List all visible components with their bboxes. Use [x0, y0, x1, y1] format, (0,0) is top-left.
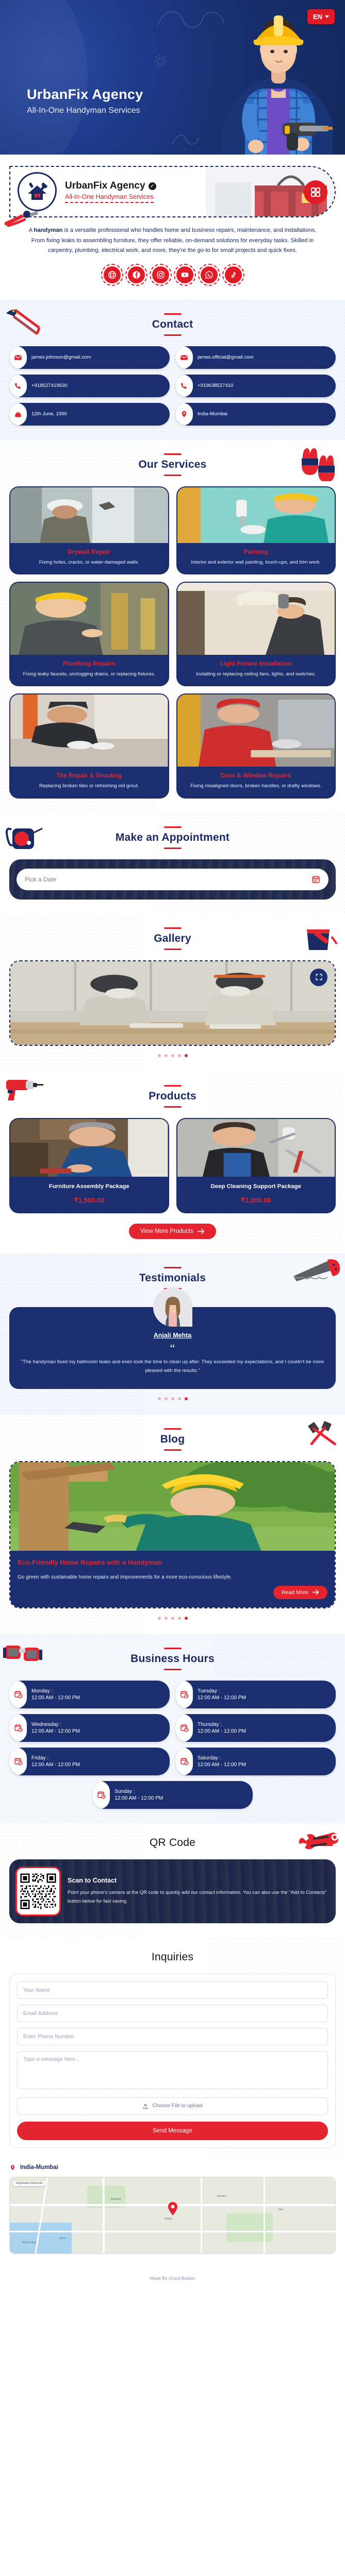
hours-day: Tuesday : [198, 1688, 246, 1694]
product-image [10, 1119, 168, 1177]
service-card[interactable]: Light Fixture Installation Installing or… [176, 582, 336, 686]
hours-time: 12:00 AM - 12:00 PM [198, 1762, 246, 1768]
rule-top [164, 927, 182, 929]
map-road [103, 2177, 105, 2254]
location-pin-icon [9, 2164, 16, 2171]
hours-row-saturday: Saturday : 12:00 AM - 12:00 PM [175, 1748, 336, 1775]
rule-top [164, 1085, 182, 1087]
avatar [153, 1287, 192, 1327]
facebook-glyph [132, 270, 141, 279]
hours-time: 12:00 AM - 12:00 PM [31, 1728, 80, 1734]
section-title: Gallery [9, 933, 336, 945]
service-name: Tile Repair & Grouting [15, 772, 163, 779]
service-image [177, 694, 335, 767]
service-desc: Installing or replacing ceiling fans, li… [182, 670, 331, 678]
pagination-dot[interactable] [178, 1397, 181, 1400]
contact-section: Contact james.johnson@gmail.com james.of… [0, 300, 345, 440]
service-name: Light Fixture Installation [182, 660, 331, 667]
map-place-label: Mumbai [111, 2198, 121, 2201]
calendar-clock-icon [175, 1748, 193, 1775]
view-more-products-button[interactable]: View More Products [129, 1224, 216, 1239]
hours-time: 12:00 AM - 12:00 PM [114, 1795, 163, 1801]
hours-day: Friday : [31, 1755, 80, 1761]
calendar-clock-icon [92, 1781, 110, 1809]
contact-item-phone-2[interactable]: +919638527410 [175, 375, 336, 397]
hero-subtitle: All-In-One Handyman Services [27, 106, 143, 115]
map-embed[interactable]: Mumbai Dadar Worli Bandra Mahim Bay Sion… [9, 2177, 336, 2254]
inquiries-header: Inquiries [9, 1951, 336, 1963]
product-name: Furniture Assembly Package [14, 1182, 164, 1191]
gallery-section: Gallery [0, 914, 345, 1072]
date-picker[interactable]: Pick a Date [17, 869, 328, 890]
hours-text: Friday : 12:00 AM - 12:00 PM [31, 1755, 80, 1768]
section-title: Our Services [9, 459, 336, 471]
contact-value: james.johnson@gmail.com [31, 354, 91, 360]
birthday-cake-icon [9, 403, 27, 426]
language-selector[interactable]: EN [307, 9, 335, 24]
upload-icon [142, 2103, 149, 2109]
testimonial-text: "The handyman fixed my bathroom leaks an… [20, 1358, 325, 1376]
map-marker-icon [168, 2202, 178, 2215]
hours-time: 12:00 AM - 12:00 PM [198, 1728, 246, 1734]
appointment-section: Make an Appointment Pick a Date [0, 813, 345, 914]
business-hours-section: Business Hours Monday : 12:00 AM - 12:00… [0, 1634, 345, 1823]
pagination-dot[interactable] [165, 1397, 168, 1400]
section-title: Inquiries [9, 1951, 336, 1963]
rule-bottom [164, 948, 182, 950]
gallery-header: Gallery [9, 927, 336, 950]
hours-time: 12:00 AM - 12:00 PM [31, 1695, 80, 1701]
contact-item-phone-1[interactable]: +918527419630 [9, 375, 170, 397]
whatsapp-icon[interactable] [201, 266, 218, 283]
map-place-label: Sion [278, 2208, 284, 2211]
service-card[interactable]: Painting Interior and exterior wall pain… [176, 486, 336, 574]
hero-decor-blob [0, 0, 88, 155]
map-place-label: Worli [59, 2237, 65, 2240]
whatsapp-glyph [205, 270, 213, 279]
service-body: Light Fixture Installation Installing or… [177, 655, 335, 685]
cta-label: View More Products [140, 1228, 193, 1234]
instagram-glyph [156, 270, 165, 279]
blog-header: Blog [9, 1428, 336, 1451]
product-card[interactable]: Deep Cleaning Support Package ₹1,200.00 [176, 1118, 336, 1214]
qr-code-image[interactable] [15, 1867, 61, 1916]
phone-icon [175, 375, 193, 397]
pagination-dot-active[interactable] [185, 1617, 188, 1620]
rule-top [164, 826, 182, 828]
service-body: Painting Interior and exterior wall pain… [177, 543, 335, 573]
hours-time: 12:00 AM - 12:00 PM [198, 1695, 246, 1701]
tiktok-icon[interactable] [225, 266, 242, 283]
hero-title: UrbanFix Agency [27, 87, 143, 103]
gear-decor-icon [153, 54, 168, 69]
rule-bottom [164, 1449, 182, 1451]
service-name: Painting [182, 548, 331, 555]
send-message-button[interactable]: Send Message [17, 2122, 328, 2140]
hours-text: Saturday : 12:00 AM - 12:00 PM [198, 1755, 246, 1768]
contact-item-email-2[interactable]: james.official@gmail.com [175, 346, 336, 369]
map-shortcuts-badge: Keyboard shortcuts [13, 2181, 45, 2186]
rule-top [164, 1267, 182, 1268]
service-card[interactable]: Plumbing Repairs Fixing leaky faucets, u… [9, 582, 169, 686]
qr-matrix [19, 1872, 57, 1910]
facebook-icon[interactable] [128, 266, 145, 283]
product-card[interactable]: Furniture Assembly Package ₹1,500.00 [9, 1118, 169, 1214]
calendar-clock-icon [175, 1714, 193, 1742]
hours-day: Saturday : [198, 1755, 246, 1761]
vcard-page: EN [0, 0, 345, 2289]
testimonial-author: Anjali Mehta [20, 1332, 325, 1339]
product-body: Furniture Assembly Package ₹1,500.00 [10, 1177, 168, 1213]
blog-image [10, 1462, 335, 1551]
phone-icon [9, 375, 27, 397]
rule-top [164, 1648, 182, 1649]
qr-card-desc: Point your phone's camera at the QR code… [68, 1888, 330, 1905]
hours-text: Wednesday : 12:00 AM - 12:00 PM [31, 1722, 80, 1734]
calendar-icon [311, 875, 320, 884]
file-upload-label: Choose File to upload [152, 2103, 202, 2109]
service-name: Plumbing Repairs [15, 660, 163, 667]
contact-grid: james.johnson@gmail.com james.official@g… [9, 346, 336, 426]
contact-item-location[interactable]: India-Mumbai [175, 403, 336, 426]
service-body: Tile Repair & Grouting Replacing broken … [10, 767, 168, 797]
about-text: A handyman is a versatile professional w… [9, 217, 336, 256]
house-tools-icon [26, 180, 48, 203]
product-price: ₹1,200.00 [182, 1196, 331, 1205]
rule-top [164, 1428, 182, 1430]
hours-row-thursday: Thursday : 12:00 AM - 12:00 PM [175, 1714, 336, 1742]
hours-day: Wednesday : [31, 1722, 80, 1727]
testimonial-card-wrap: Anjali Mehta “ "The handyman fixed my ba… [9, 1307, 336, 1388]
gallery-slide[interactable] [9, 960, 336, 1046]
testimonials-section: Testimonials Anjali Mehta “ "The handyma… [0, 1253, 345, 1414]
hours-text: Monday : 12:00 AM - 12:00 PM [31, 1688, 80, 1701]
message-input[interactable] [17, 2051, 328, 2089]
map-section: India-Mumbai Mumbai Dadar Worli Bandra M… [0, 2162, 345, 2268]
service-desc: Replacing broken tiles or refreshing old… [15, 782, 163, 790]
blog-illustration [10, 1462, 335, 1551]
profile-card: UrbanFix Agency ✓ All-In-One Handyman Se… [9, 166, 336, 217]
hours-time: 12:00 AM - 12:00 PM [31, 1762, 80, 1768]
hours-day: Sunday : [114, 1789, 163, 1794]
section-title: Business Hours [9, 1653, 336, 1665]
products-cta-wrap: View More Products [9, 1213, 336, 1239]
rule-bottom [164, 334, 182, 336]
contact-value: +919638527410 [198, 383, 234, 388]
section-title: Blog [9, 1433, 336, 1446]
service-desc: Fixing misaligned doors, broken handles,… [182, 782, 331, 790]
pagination-dot[interactable] [171, 1617, 174, 1620]
brand-tagline: All-In-One Handyman Services [65, 193, 154, 203]
service-image [10, 487, 168, 543]
section-title: Testimonials [9, 1272, 336, 1284]
hero-text-block: UrbanFix Agency All-In-One Handyman Serv… [27, 87, 143, 115]
brand-name-row: UrbanFix Agency ✓ [65, 180, 156, 192]
hours-day: Thursday : [198, 1722, 246, 1727]
file-upload[interactable]: Choose File to upload [17, 2097, 328, 2115]
tiktok-glyph [229, 270, 238, 279]
inquiry-form: Choose File to upload Send Message [9, 1974, 336, 2148]
business-hours-sunday-wrap: Sunday : 12:00 AM - 12:00 PM [9, 1781, 336, 1809]
hours-text: Thursday : 12:00 AM - 12:00 PM [198, 1722, 246, 1734]
youtube-icon[interactable] [176, 266, 193, 283]
map-place-label: Bandra [217, 2195, 226, 2198]
business-hours-grid: Monday : 12:00 AM - 12:00 PM Tuesday : 1… [9, 1681, 336, 1775]
pagination-dot[interactable] [158, 1054, 161, 1057]
services-section: Our Services Drywall Repair Fixing holes… [0, 440, 345, 813]
contact-value: 12th June, 1990 [31, 411, 67, 417]
service-card[interactable]: Tile Repair & Grouting Replacing broken … [9, 693, 169, 798]
service-body: Drywall Repair Fixing holes, cracks, or … [10, 543, 168, 573]
pliers-decor-icon [4, 208, 38, 229]
services-grid: Drywall Repair Fixing holes, cracks, or … [9, 486, 336, 799]
qr-section: QR Code [0, 1823, 345, 1938]
map-label: India-Mumbai [20, 2164, 58, 2171]
hours-row-tuesday: Tuesday : 12:00 AM - 12:00 PM [175, 1681, 336, 1708]
verified-badge-icon: ✓ [149, 182, 156, 190]
testimonials-pagination[interactable] [9, 1389, 336, 1400]
language-label: EN [313, 13, 322, 21]
product-name: Deep Cleaning Support Package [182, 1182, 331, 1191]
brand-name: UrbanFix Agency [65, 180, 145, 192]
pagination-dot-active[interactable] [185, 1054, 188, 1057]
location-pin-icon [175, 403, 193, 426]
rule-bottom [164, 1106, 182, 1108]
read-more-button[interactable]: Read More [273, 1586, 327, 1599]
blog-post-title: Eco-Friendly Home Repairs with a Handyma… [18, 1558, 327, 1566]
service-image [10, 583, 168, 655]
instagram-icon[interactable] [152, 266, 169, 283]
service-card[interactable]: Door & Window Repairs Fixing misaligned … [176, 693, 336, 798]
avatar-image [153, 1287, 192, 1327]
website-icon[interactable] [104, 266, 121, 283]
contact-value: India-Mumbai [198, 411, 227, 417]
map-place-label: Mahim Bay [22, 2241, 37, 2244]
appointment-header: Make an Appointment [9, 826, 336, 849]
product-image [177, 1119, 335, 1177]
rule-top [164, 453, 182, 455]
social-links [9, 256, 336, 297]
email-input[interactable] [17, 2005, 328, 2022]
rule-bottom [164, 1669, 182, 1670]
business-hours-header: Business Hours [9, 1648, 336, 1670]
hero-decor-squiggle-2 [170, 129, 201, 149]
contact-header: Contact [9, 313, 336, 336]
qr-text-block: Scan to Contact Point your phone's camer… [68, 1877, 330, 1905]
pagination-dot[interactable] [158, 1397, 161, 1400]
blog-cta-wrap: Read More [18, 1586, 327, 1599]
qr-code-icon[interactable] [304, 180, 327, 204]
hours-day: Monday : [31, 1688, 80, 1694]
name-input[interactable] [17, 1981, 328, 1999]
arrow-right-icon [313, 1589, 319, 1595]
products-section: Products Furniture Assembly Package ₹1,5… [0, 1072, 345, 1254]
service-desc: Fixing leaky faucets, unclogging drains,… [15, 670, 163, 678]
service-desc: Interior and exterior wall painting, tou… [182, 558, 331, 566]
hours-row-wednesday: Wednesday : 12:00 AM - 12:00 PM [9, 1714, 170, 1742]
service-card[interactable]: Drywall Repair Fixing holes, cracks, or … [9, 486, 169, 574]
calendar-clock-icon [9, 1748, 27, 1775]
blog-section: Blog [0, 1415, 345, 1634]
blog-card[interactable]: Eco-Friendly Home Repairs with a Handyma… [9, 1461, 336, 1608]
rule-top [164, 313, 182, 315]
appointment-card: Pick a Date [9, 859, 336, 900]
pagination-dot[interactable] [178, 1054, 181, 1057]
map-park [226, 2213, 273, 2242]
hero-decor-squiggle [155, 5, 227, 41]
hours-row-friday: Friday : 12:00 AM - 12:00 PM [9, 1748, 170, 1775]
blog-post-desc: Go green with sustainable home repairs a… [18, 1573, 327, 1582]
read-more-label: Read More [282, 1589, 308, 1596]
phone-input[interactable] [17, 2028, 328, 2045]
hours-text: Sunday : 12:00 AM - 12:00 PM [114, 1789, 163, 1801]
qr-card: Scan to Contact Point your phone's camer… [9, 1859, 336, 1923]
email-icon [9, 346, 27, 369]
service-desc: Fixing holes, cracks, or water-damaged w… [15, 558, 163, 566]
service-body: Plumbing Repairs Fixing leaky faucets, u… [10, 655, 168, 685]
pagination-dot[interactable] [165, 1617, 168, 1620]
pagination-dot[interactable] [178, 1617, 181, 1620]
pagination-dot-active[interactable] [185, 1397, 188, 1400]
section-title: Make an Appointment [9, 832, 336, 844]
qr-header: QR Code [9, 1837, 336, 1849]
chevron-down-icon [325, 15, 329, 18]
qr-card-title: Scan to Contact [68, 1877, 330, 1884]
map-road [10, 2231, 336, 2232]
arrow-right-icon [198, 1228, 205, 1234]
globe-glyph [108, 270, 117, 279]
hours-text: Tuesday : 12:00 AM - 12:00 PM [198, 1688, 246, 1701]
services-header: Our Services [9, 453, 336, 476]
hero-banner: EN [0, 0, 345, 155]
quote-mark-icon: “ [20, 1344, 325, 1353]
service-name: Drywall Repair [15, 548, 163, 555]
product-price: ₹1,500.00 [14, 1196, 164, 1205]
service-image [10, 694, 168, 767]
brand-logo [18, 172, 57, 211]
inquiries-section: Inquiries Choose File to upload Send Mes… [0, 1938, 345, 2162]
pagination-dot[interactable] [158, 1617, 161, 1620]
profile-section: UrbanFix Agency ✓ All-In-One Handyman Se… [0, 155, 345, 300]
service-name: Door & Window Repairs [182, 772, 331, 779]
blog-body: Eco-Friendly Home Repairs with a Handyma… [10, 1551, 335, 1607]
hours-row-sunday: Sunday : 12:00 AM - 12:00 PM [92, 1781, 253, 1809]
section-title: QR Code [9, 1837, 336, 1849]
gallery-image [10, 961, 335, 1046]
section-title: Contact [9, 318, 336, 331]
service-image [177, 487, 335, 543]
pagination-dot[interactable] [165, 1054, 168, 1057]
map-road [201, 2177, 202, 2254]
service-body: Door & Window Repairs Fixing misaligned … [177, 767, 335, 797]
blog-pagination[interactable] [9, 1608, 336, 1620]
about-rest: is a versatile professional who handles … [31, 227, 317, 253]
pagination-dot[interactable] [171, 1397, 174, 1400]
calendar-clock-icon [9, 1714, 27, 1742]
pagination-dot[interactable] [171, 1054, 174, 1057]
products-grid: Furniture Assembly Package ₹1,500.00 Dee… [9, 1118, 336, 1214]
map-road [264, 2177, 265, 2254]
contact-value: james.official@gmail.com [198, 354, 254, 360]
contact-item-birthday[interactable]: 12th June, 1990 [9, 403, 170, 426]
product-body: Deep Cleaning Support Package ₹1,200.00 [177, 1177, 335, 1213]
qr-glyph [310, 187, 321, 197]
map-header: India-Mumbai [9, 2164, 336, 2171]
contact-value: +918527419630 [31, 383, 68, 388]
map-place-label: Dadar [165, 2217, 172, 2221]
brand-block: UrbanFix Agency ✓ All-In-One Handyman Se… [65, 180, 156, 203]
expand-icon[interactable] [310, 969, 327, 986]
footer: Made By vCard Builder [0, 2268, 345, 2289]
email-icon [175, 346, 193, 369]
youtube-glyph [180, 270, 189, 279]
contact-item-email-1[interactable]: james.johnson@gmail.com [9, 346, 170, 369]
service-image [177, 583, 335, 655]
gallery-pagination[interactable] [9, 1046, 336, 1057]
rule-bottom [164, 474, 182, 476]
date-placeholder: Pick a Date [25, 876, 56, 883]
hours-row-monday: Monday : 12:00 AM - 12:00 PM [9, 1681, 170, 1708]
calendar-clock-icon [9, 1681, 27, 1708]
rule-bottom [164, 848, 182, 849]
section-title: Products [9, 1090, 336, 1103]
products-header: Products [9, 1085, 336, 1108]
calendar-clock-icon [175, 1681, 193, 1708]
testimonials-header: Testimonials [9, 1267, 336, 1290]
